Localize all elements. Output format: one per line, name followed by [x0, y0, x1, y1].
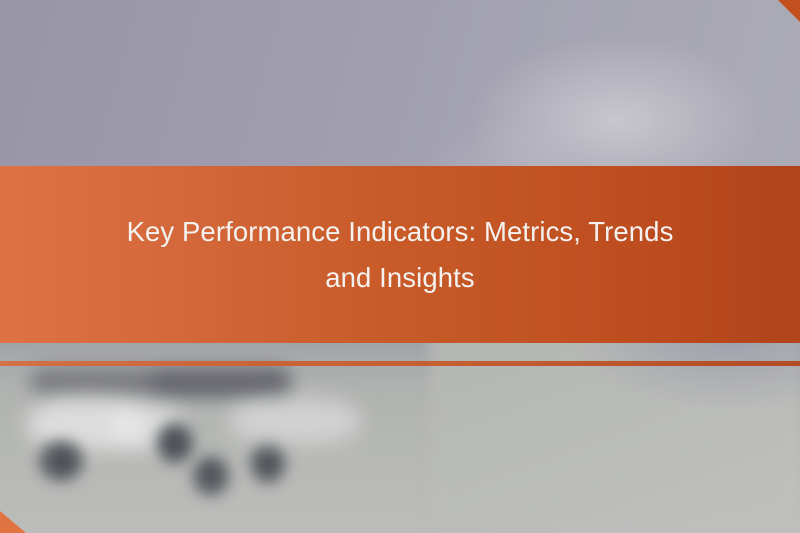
blurred-lens-lower-core	[202, 465, 220, 485]
page-title-line-1: Key Performance Indicators: Metrics, Tre…	[127, 216, 674, 247]
slide-canvas: Key Performance Indicators: Metrics, Tre…	[0, 0, 800, 533]
blurred-lens-left-core	[50, 450, 74, 472]
blurred-surface-sheen	[230, 398, 360, 444]
accent-divider-rule	[0, 361, 800, 366]
blurred-lens-right-core	[259, 452, 277, 474]
corner-accent-bottom-left	[0, 511, 26, 533]
page-title-line-2: and Insights	[325, 262, 475, 293]
title-band: Key Performance Indicators: Metrics, Tre…	[0, 166, 800, 343]
blurred-object-bar-secondary	[150, 372, 290, 394]
blurred-lens-center-core	[165, 432, 185, 454]
page-title: Key Performance Indicators: Metrics, Tre…	[70, 209, 730, 301]
corner-accent-top-right	[778, 0, 800, 22]
